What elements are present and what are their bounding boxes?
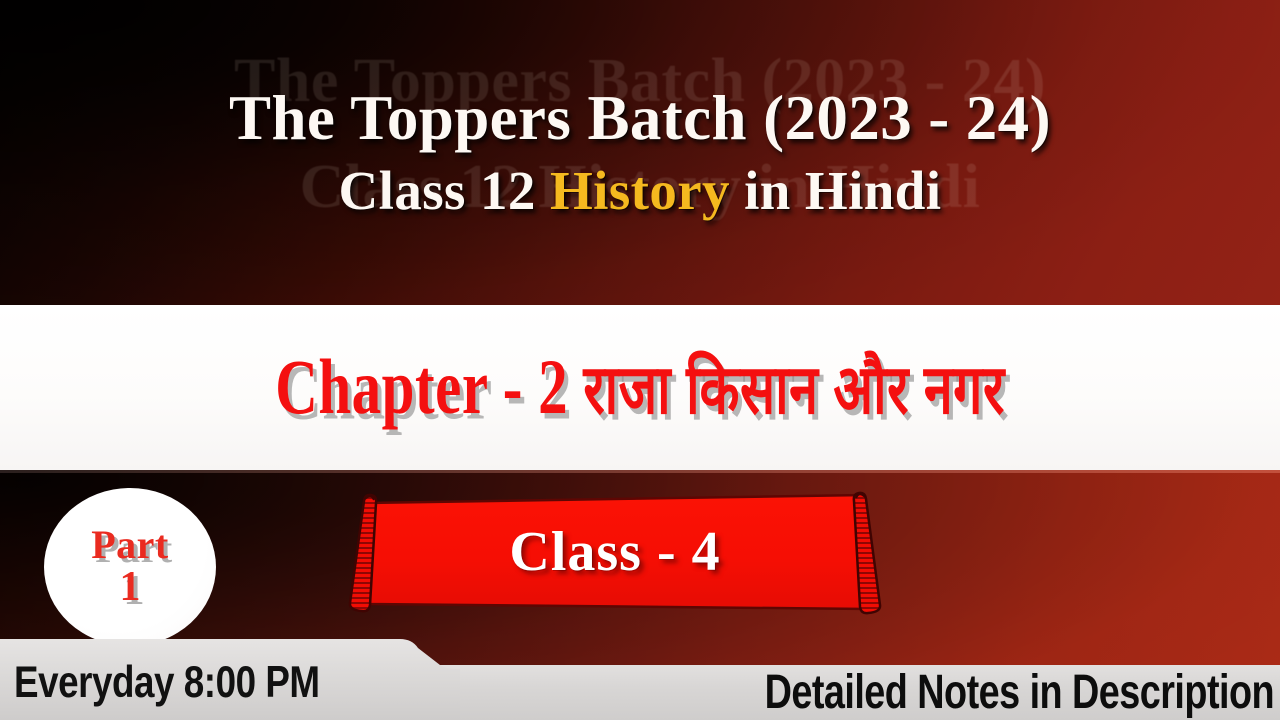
- course-subtitle-prefix: Class 12: [339, 160, 550, 221]
- chapter-title: Chapter - 2 राजा किसान और नगर: [265, 349, 1014, 427]
- chapter-title-hi: राजा किसान और नगर: [583, 353, 1004, 430]
- batch-title: The Toppers Batch (2023 - 24): [229, 86, 1051, 150]
- part-badge-word: Part: [91, 526, 169, 564]
- subject-highlight: History: [550, 160, 730, 221]
- course-subtitle: Class 12 History in Hindi: [339, 163, 942, 219]
- thumbnail-canvas: The Toppers Batch (2023 - 24) Class 12 H…: [0, 0, 1280, 720]
- chapter-title-en: Chapter - 2: [275, 343, 583, 430]
- band-divider-line: [0, 470, 1280, 473]
- notes-callout-text: Detailed Notes in Description: [765, 661, 1274, 720]
- chapter-band: Chapter - 2 राजा किसान और नगर: [0, 305, 1280, 470]
- part-badge: Part 1: [44, 488, 216, 646]
- scroll-banner: Class - 4: [340, 487, 890, 622]
- part-badge-number: 1: [120, 566, 141, 608]
- course-subtitle-suffix: in Hindi: [730, 160, 942, 221]
- class-number-label: Class - 4: [340, 487, 890, 622]
- header-band: The Toppers Batch (2023 - 24) Class 12 H…: [0, 0, 1280, 305]
- schedule-text: Everyday 8:00 PM: [14, 634, 400, 720]
- header-title-group: The Toppers Batch (2023 - 24) Class 12 H…: [0, 0, 1280, 305]
